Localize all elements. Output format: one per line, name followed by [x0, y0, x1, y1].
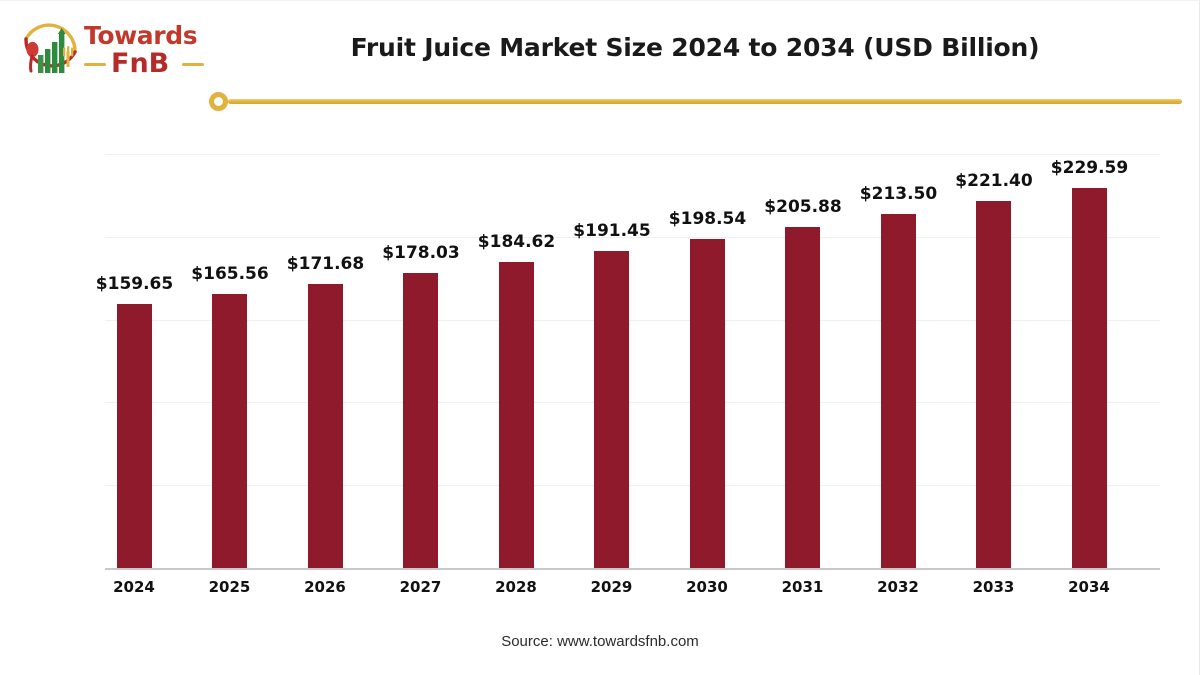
bar-slot: $198.54 [690, 154, 725, 568]
bar-slot: $159.65 [117, 154, 152, 568]
x-axis-line [105, 568, 1160, 570]
bar[interactable] [881, 214, 916, 568]
bar-slot: $165.56 [212, 154, 247, 568]
brand-name-line1: Towards [84, 21, 197, 50]
x-axis-tick-label: 2034 [1029, 578, 1149, 596]
bar-slot: $184.62 [499, 154, 534, 568]
circle-knob-icon [209, 92, 228, 111]
bar-chart-fork-spoon-icon [16, 19, 82, 85]
bar-slot: $221.40 [976, 154, 1011, 568]
brand-wordmark: Towards FnB [78, 21, 212, 85]
bar-value-label: $229.59 [1030, 158, 1150, 178]
bar-slot: $191.45 [594, 154, 629, 568]
bar[interactable] [690, 239, 725, 568]
bar[interactable] [403, 273, 438, 568]
chart-page: Towards FnB Fruit Juice Market Size 2024… [0, 0, 1200, 675]
bar[interactable] [1072, 188, 1107, 568]
plot-area: $159.65$165.56$171.68$178.03$184.62$191.… [105, 154, 1160, 568]
page-title: Fruit Juice Market Size 2024 to 2034 (US… [300, 33, 1090, 62]
source-note: Source: www.towardsfnb.com [0, 633, 1200, 650]
header-divider-rule [228, 99, 1182, 104]
bar[interactable] [594, 251, 629, 568]
bar[interactable] [785, 227, 820, 568]
bar-slot: $205.88 [785, 154, 820, 568]
bar[interactable] [308, 284, 343, 568]
bar[interactable] [212, 294, 247, 568]
bar[interactable] [499, 262, 534, 568]
bar-slot: $178.03 [403, 154, 438, 568]
bar-slot: $171.68 [308, 154, 343, 568]
bar[interactable] [117, 304, 152, 568]
brand-name-line2: FnB [111, 48, 169, 79]
brand-logo[interactable]: Towards FnB [12, 13, 212, 91]
wordmark-dash-left [84, 63, 106, 66]
wordmark-dash-right [182, 63, 204, 66]
bar-slot: $213.50 [881, 154, 916, 568]
bar[interactable] [976, 201, 1011, 568]
bar-slot: $229.59 [1072, 154, 1107, 568]
